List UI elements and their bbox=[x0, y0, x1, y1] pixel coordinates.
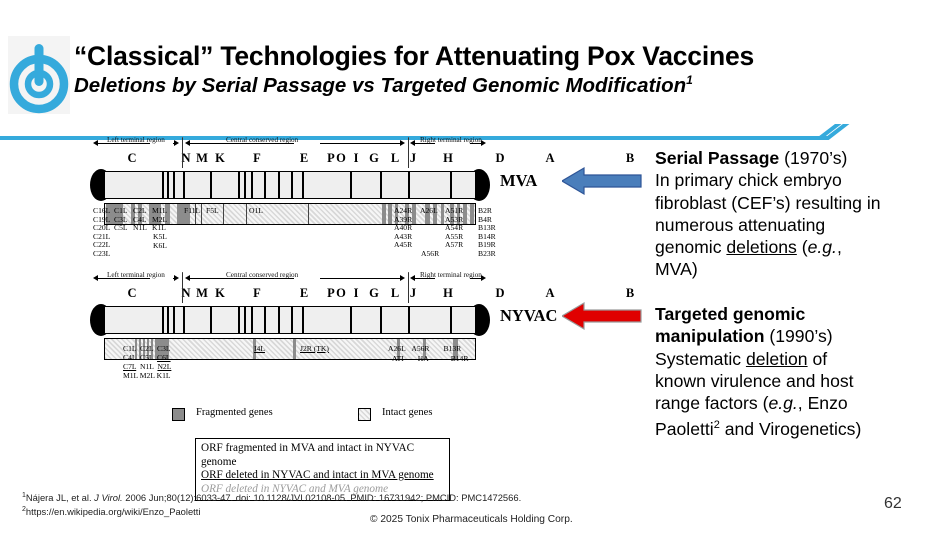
mva-letter-K: K bbox=[215, 151, 225, 166]
footnote-2-url: https://en.wikipedia.org/wiki/Enzo_Paole… bbox=[26, 506, 201, 517]
nyvac-gene-n2l: N2L bbox=[157, 362, 171, 371]
legend-label-intact: Intact genes bbox=[382, 407, 432, 418]
legend-swatch-fragmented bbox=[172, 408, 185, 421]
footnote-reference-2[interactable]: 2https://en.wikipedia.org/wiki/Enzo_Paol… bbox=[22, 506, 200, 517]
mva-letter-I: I bbox=[354, 151, 359, 166]
nyvac-hindiii-letters: C N M K F E P O I G L J H D A B bbox=[90, 286, 490, 303]
mva-gene-list-a56-deleted: A56R bbox=[421, 250, 439, 259]
nyvac-letter-H: H bbox=[443, 286, 453, 301]
mva-letter-D: D bbox=[495, 151, 504, 166]
mva-chromosome-body bbox=[104, 171, 476, 199]
nyvac-label: NYVAC bbox=[500, 306, 557, 326]
callout-serial-passage-deletions-word: deletions bbox=[726, 237, 796, 257]
callout-targeted-line2: known virulence and host bbox=[655, 371, 854, 391]
mva-letter-P: P bbox=[327, 151, 335, 166]
mva-chromosome-bar bbox=[90, 169, 490, 201]
mva-region-bar: Left terminal region Central conserved r… bbox=[90, 137, 490, 150]
callout-serial-passage-line5: MVA) bbox=[655, 259, 698, 279]
nyvac-region-left-label: Left terminal region bbox=[107, 271, 165, 279]
nyvac-letter-P: P bbox=[327, 286, 335, 301]
mva-letter-M: M bbox=[196, 151, 208, 166]
callout-targeted-heading-line1: Targeted genomic bbox=[655, 304, 805, 324]
nyvac-gene-row-4: M1L M2L K1L bbox=[123, 372, 171, 381]
mva-gene-list-a51: A51R A53R A54R A55R A57R bbox=[445, 207, 463, 250]
callout-targeted-decade: (1990’s) bbox=[764, 326, 832, 346]
mva-letter-A: A bbox=[545, 151, 554, 166]
mva-gene-list-a24: A24R A39R A40R A43R A45R bbox=[394, 207, 412, 250]
nyvac-letter-O: O bbox=[336, 286, 346, 301]
nyvac-letter-F: F bbox=[253, 286, 261, 301]
page-title: “Classical” Technologies for Attenuating… bbox=[74, 41, 904, 72]
mva-hindiii-letters: C N M K F E P O I G L J H D A B bbox=[90, 151, 490, 168]
slide-canvas: “Classical” Technologies for Attenuating… bbox=[0, 0, 950, 533]
mva-letter-O: O bbox=[336, 151, 346, 166]
nyvac-letter-M: M bbox=[196, 286, 208, 301]
mva-region-left-label: Left terminal region bbox=[107, 136, 165, 144]
mva-letter-E: E bbox=[300, 151, 308, 166]
nyvac-gene-j2r: J2R (TK) bbox=[300, 345, 329, 354]
mva-letter-F: F bbox=[253, 151, 261, 166]
page-number: 62 bbox=[884, 495, 902, 513]
page-subtitle-text: Deletions by Serial Passage vs Targeted … bbox=[74, 74, 686, 97]
nyvac-gene-right-row-2: ATI HAB14R bbox=[392, 355, 468, 364]
mva-letter-H: H bbox=[443, 151, 453, 166]
nyvac-chromosome-body bbox=[104, 306, 476, 334]
nyvac-letter-A: A bbox=[545, 286, 554, 301]
key-line-fragmented: ORF fragmented in MVA and intact in NYVA… bbox=[201, 442, 444, 469]
nyvac-letter-L: L bbox=[391, 286, 399, 301]
nyvac-letter-B: B bbox=[626, 286, 634, 301]
legend-label-fragmented: Fragmented genes bbox=[196, 407, 273, 418]
mva-gene-list-b13-deleted: B13R B14R bbox=[478, 224, 496, 241]
callout-serial-passage-line3: numerous attenuating bbox=[655, 215, 825, 235]
callout-targeted-heading-line2: manipulation bbox=[655, 326, 764, 346]
key-line-deleted-nyvac: ORF deleted in NYVAC and intact in MVA g… bbox=[201, 469, 444, 483]
mva-letter-G: G bbox=[369, 151, 379, 166]
mva-gene-list-f11: F11L bbox=[184, 207, 200, 216]
nyvac-letter-E: E bbox=[300, 286, 308, 301]
mva-gene-list-c1-deleted: C1L C3L C5L bbox=[114, 207, 128, 233]
mva-region-center-label: Central conserved region bbox=[226, 136, 298, 144]
mva-gene-list-b2: B2R B4R bbox=[478, 207, 492, 224]
nyvac-region-center-label: Central conserved region bbox=[226, 271, 298, 279]
mva-gene-list-m1-deleted: M1L M2L K1L bbox=[152, 207, 167, 233]
footnote-reference-1: 1Nájera JL, et al. J Virol. 2006 Jun;80(… bbox=[22, 492, 521, 503]
callout-serial-passage-line2: fibroblast (CEF’s) resulting in bbox=[655, 193, 881, 213]
mva-letter-L: L bbox=[391, 151, 399, 166]
nyvac-chromosome-bar bbox=[90, 304, 490, 336]
nyvac-gene-right-row-1: A26L A56RB13R bbox=[388, 345, 461, 354]
mva-letter-C: C bbox=[127, 151, 136, 166]
nyvac-letter-K: K bbox=[215, 286, 225, 301]
nyvac-letter-I: I bbox=[354, 286, 359, 301]
nyvac-letter-G: G bbox=[369, 286, 379, 301]
nyvac-region-bar: Left terminal region Central conserved r… bbox=[90, 272, 490, 285]
footnote-1-journal: J Virol. bbox=[94, 492, 122, 503]
mva-gene-list-k5: K5L K6L bbox=[153, 233, 167, 250]
mva-gene-list-o1: O1L bbox=[249, 207, 263, 216]
legend-swatch-intact bbox=[358, 408, 371, 421]
mva-gene-list-f5: F5L bbox=[206, 207, 219, 216]
nyvac-letter-D: D bbox=[495, 286, 504, 301]
callout-targeted-manipulation: Targeted genomic manipulation (1990’s) S… bbox=[655, 303, 945, 441]
callout-targeted-deletion-word: deletion bbox=[746, 349, 808, 369]
mva-gene-list-c16: C16L C19L C20L C21L C22L C23L bbox=[93, 207, 110, 259]
nyvac-callout-arrow bbox=[562, 301, 642, 336]
mva-label: MVA bbox=[500, 171, 537, 191]
nyvac-gene-i4l: I4L bbox=[254, 345, 265, 354]
callout-serial-passage-heading: Serial Passage bbox=[655, 148, 779, 168]
footnote-1-author: Nájera JL, et al. bbox=[26, 492, 94, 503]
nyvac-gene-c7l: C7L bbox=[123, 362, 136, 371]
page-subtitle-superscript: 1 bbox=[686, 73, 693, 87]
callout-serial-passage: Serial Passage (1970’s) In primary chick… bbox=[655, 147, 945, 281]
mva-gene-list-c2-deleted: C2L C4L N1L bbox=[133, 207, 147, 233]
nyvac-gene-c6l: C6L bbox=[157, 353, 171, 362]
footnote-1-rest: 2006 Jun;80(12):6033-47. doi: 10.1128/JV… bbox=[123, 492, 522, 503]
callout-serial-passage-decade: (1970’s) bbox=[779, 148, 847, 168]
nyvac-letter-C: C bbox=[127, 286, 136, 301]
mva-letter-B: B bbox=[626, 151, 634, 166]
mva-gene-list-b19: B19R B23R bbox=[478, 241, 496, 258]
callout-serial-passage-line1: In primary chick embryo bbox=[655, 170, 842, 190]
callout-targeted-footnote-marker: 2 bbox=[714, 419, 720, 431]
mva-letter-J: J bbox=[410, 151, 416, 166]
mva-gene-list-a26-deleted: A26L bbox=[420, 207, 438, 216]
copyright-notice: © 2025 Tonix Pharmaceuticals Holding Cor… bbox=[370, 514, 573, 525]
mva-callout-arrow bbox=[562, 166, 642, 201]
nyvac-letter-J: J bbox=[410, 286, 416, 301]
page-subtitle: Deletions by Serial Passage vs Targeted … bbox=[74, 73, 904, 98]
tonix-power-logo-icon bbox=[8, 36, 70, 114]
